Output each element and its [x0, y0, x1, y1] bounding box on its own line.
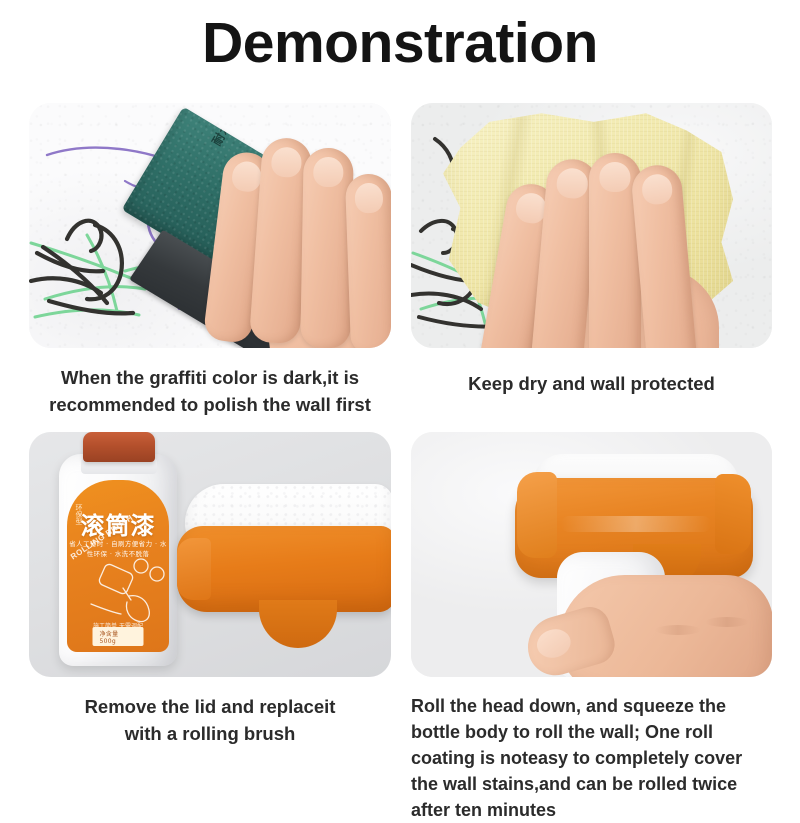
bottle-cap [83, 432, 155, 462]
fingernail [354, 183, 383, 214]
fingernail [270, 146, 302, 178]
bottle-label: 环保型 滚筒漆 省人工省时 · 自刷方便省力 · 水性环保 · 水洗不脱落 [67, 480, 169, 652]
label-roller-illustration [71, 552, 165, 628]
thumbnail [534, 625, 574, 661]
photo-polish-wall: 耐水砂纸 SH 5 DETAO CLEAN [29, 103, 391, 348]
roller-stem [259, 600, 337, 648]
demo-step-roll-wall: Roll the head down, and squeeze the bott… [411, 432, 772, 823]
finger [345, 173, 391, 348]
caption-polish-wall: When the graffiti color is dark,it is re… [29, 364, 391, 419]
demonstration-infographic: Demonstration [0, 0, 800, 800]
photo-wipe-dry [411, 103, 772, 348]
finger [300, 148, 353, 348]
paint-bottle: 环保型 滚筒漆 省人工省时 · 自刷方便省力 · 水性环保 · 水洗不脱落 [59, 454, 177, 666]
demo-step-replace-lid: 环保型 滚筒漆 省人工省时 · 自刷方便省力 · 水性环保 · 水洗不脱落 [29, 432, 391, 748]
roller-lip-left [177, 538, 211, 600]
photo-roll-wall [411, 432, 772, 677]
fingernail [641, 173, 674, 206]
roller-lip-right [715, 474, 751, 554]
fingernail [313, 157, 344, 188]
roller-lip-left [517, 472, 557, 558]
page-title: Demonstration [0, 14, 800, 74]
caption-replace-lid: Remove the lid and replaceit with a roll… [29, 693, 391, 748]
demo-step-wipe-dry: Keep dry and wall protected [411, 103, 772, 397]
caption-wipe-dry: Keep dry and wall protected [411, 370, 772, 397]
fingernail [556, 167, 590, 200]
knuckle-crease [655, 625, 701, 635]
roller-highlight [561, 516, 711, 532]
hand-holding-block [204, 108, 391, 348]
photo-replace-lid: 环保型 滚筒漆 省人工省时 · 自刷方便省力 · 水性环保 · 水洗不脱落 [29, 432, 391, 677]
fingernail [231, 160, 263, 193]
knuckle-crease [705, 617, 749, 627]
fingernail [599, 162, 630, 192]
caption-roll-wall: Roll the head down, and squeeze the bott… [411, 693, 772, 823]
hand-squeezing-bottle [523, 569, 772, 677]
demo-step-polish-wall: 耐水砂纸 SH 5 DETAO CLEAN When the graffi [29, 103, 391, 419]
label-net-weight: 净含量 500g [93, 627, 144, 646]
hand-wiping [483, 125, 733, 348]
roller-brush-head [177, 484, 391, 664]
